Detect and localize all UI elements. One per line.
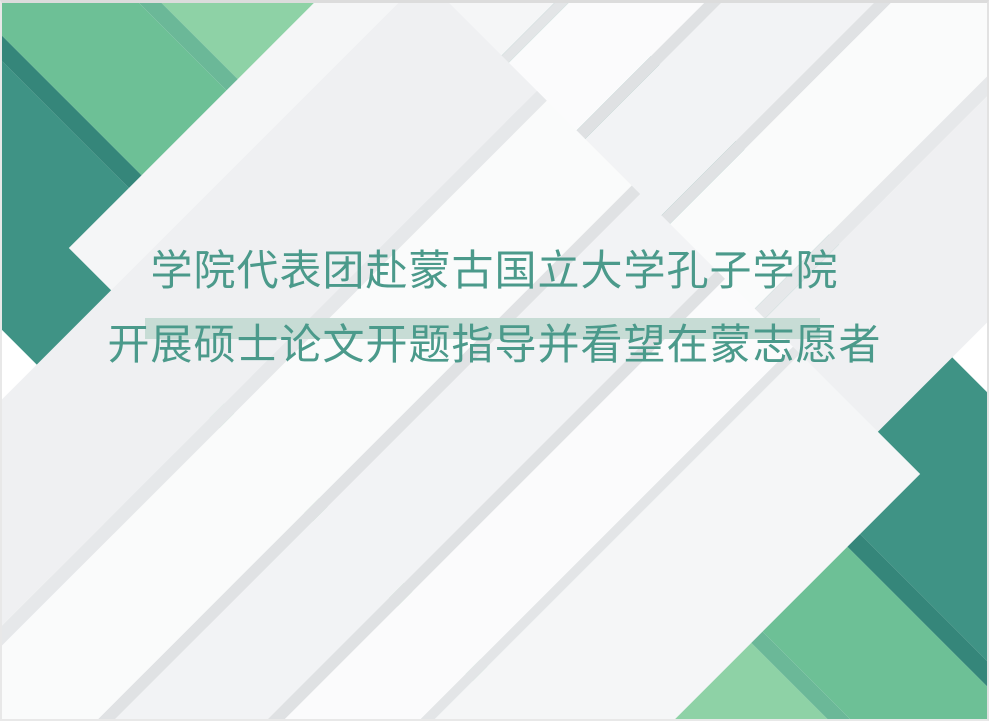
ribbon-stripe — [179, 155, 989, 721]
ribbon-stripe — [0, 101, 632, 721]
ribbon-stripe — [196, 0, 989, 443]
ribbon-stripe — [274, 58, 989, 721]
ribbon-stripe — [0, 0, 819, 484]
ribbon-stripe — [0, 91, 547, 721]
ribbon-stripe — [0, 354, 920, 721]
ribbon-stripe — [0, 347, 800, 721]
ribbon-stripe — [0, 0, 884, 474]
slide-title: 学院代表团赴蒙古国立大学孔子学院 开展硕士论文开题指导并看望在蒙志愿者 — [2, 251, 987, 367]
title-line-primary: 学院代表团赴蒙古国立大学孔子学院 — [2, 251, 987, 293]
ribbon-stripe — [0, 313, 953, 721]
presentation-slide: 学院代表团赴蒙古国立大学孔子学院 开展硕士论文开题指导并看望在蒙志愿者 — [0, 0, 989, 721]
title-line-secondary: 开展硕士论文开题指导并看望在蒙志愿者 — [2, 325, 987, 367]
ribbon-stripe — [263, 143, 989, 721]
ribbon-stripe — [359, 46, 989, 721]
ribbon-stripe — [264, 0, 989, 452]
